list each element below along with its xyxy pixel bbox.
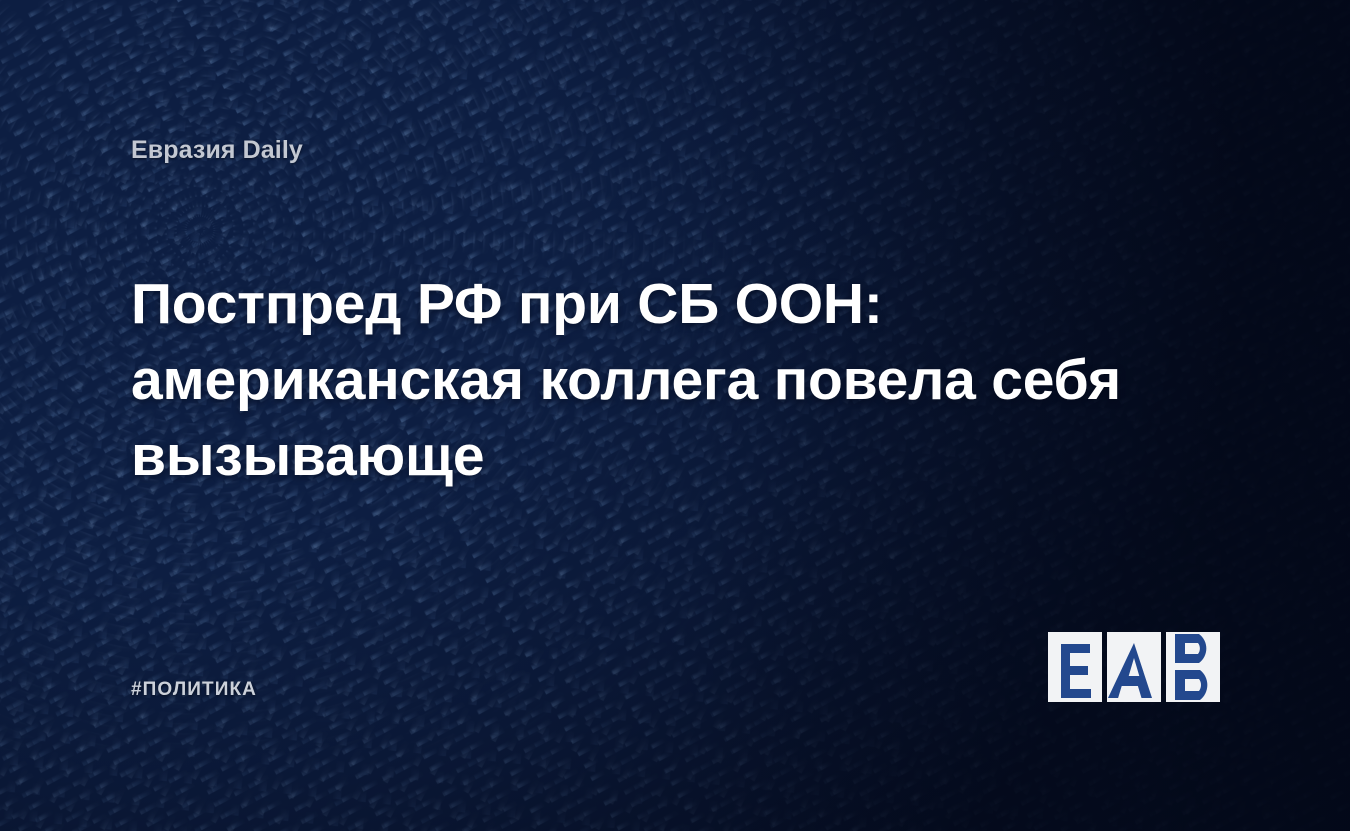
logo-letter-e <box>1061 644 1091 698</box>
page-title: Постпред РФ при СБ ООН: американская кол… <box>131 266 1141 494</box>
eadaily-logo[interactable] <box>1044 628 1230 706</box>
category-tag[interactable]: #ПОЛИТИКА <box>131 679 257 701</box>
card-content: Евразия Daily Постпред РФ при СБ ООН: ам… <box>0 0 1350 831</box>
brand-name: Евразия Daily <box>131 136 303 165</box>
news-cover-card: Евразия Daily Постпред РФ при СБ ООН: ам… <box>0 0 1350 831</box>
eadaily-logo-mark <box>1044 628 1230 706</box>
